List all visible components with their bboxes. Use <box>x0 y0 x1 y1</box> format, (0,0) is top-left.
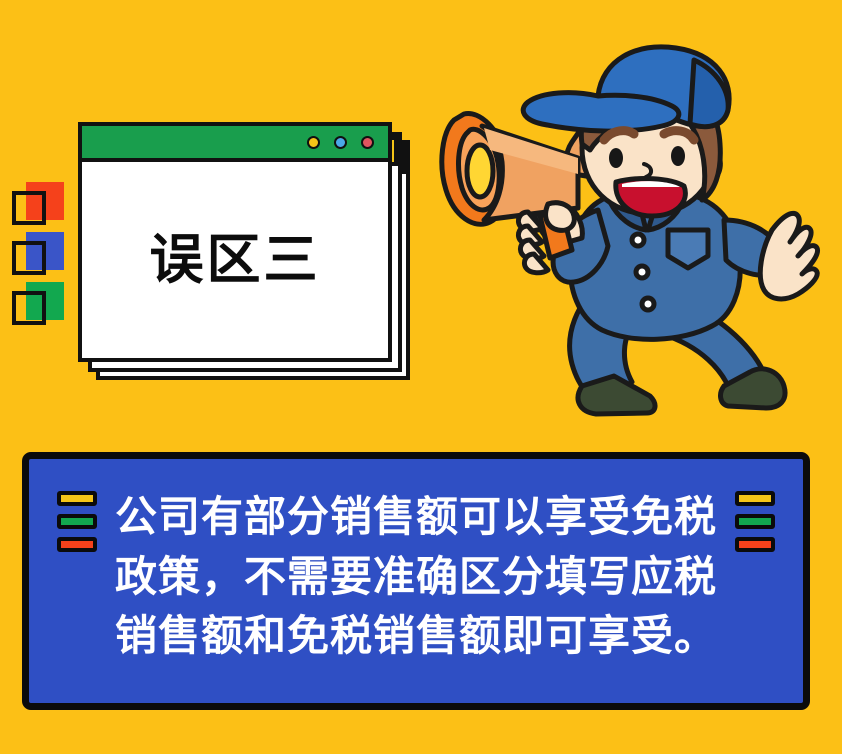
banner-bar-yellow-icon <box>57 491 97 506</box>
banner-bars-right <box>735 491 775 552</box>
decor-square-green <box>12 282 64 330</box>
banner-bar-red-icon <box>57 537 97 552</box>
decor-square-blue <box>12 232 64 280</box>
banner-bars-left <box>57 491 97 552</box>
window-card-stack: 误区三 <box>78 122 410 380</box>
banner-bar-green-icon <box>735 514 775 529</box>
window-dot-red-icon[interactable] <box>361 136 374 149</box>
window-dot-yellow-icon[interactable] <box>307 136 320 149</box>
banner-line-1: 公司有部分销售额可以享受免税 <box>107 487 725 547</box>
window-titlebar <box>82 126 388 162</box>
decor-square-blue-outline <box>12 241 46 275</box>
decor-square-red-outline <box>12 191 46 225</box>
poster-root: 误区三 <box>0 0 842 754</box>
banner-bar-green-icon <box>57 514 97 529</box>
man-with-megaphone <box>432 34 836 438</box>
banner-line-2: 政策，不需要准确区分填写应税 <box>107 547 725 607</box>
message-banner: 公司有部分销售额可以享受免税 政策，不需要准确区分填写应税 销售额和免税销售额即… <box>22 452 810 710</box>
banner-line-3: 销售额和免税销售额即可享受。 <box>107 606 725 666</box>
window-card-body: 误区三 <box>82 162 388 358</box>
decor-square-green-outline <box>12 291 46 325</box>
card-title: 误区三 <box>150 233 321 287</box>
banner-message: 公司有部分销售额可以享受免税 政策，不需要准确区分填写应税 销售额和免税销售额即… <box>107 487 725 666</box>
banner-bar-yellow-icon <box>735 491 775 506</box>
window-dot-blue-icon[interactable] <box>334 136 347 149</box>
window-card-front[interactable]: 误区三 <box>78 122 392 362</box>
banner-bar-red-icon <box>735 537 775 552</box>
decor-square-red <box>12 182 64 230</box>
